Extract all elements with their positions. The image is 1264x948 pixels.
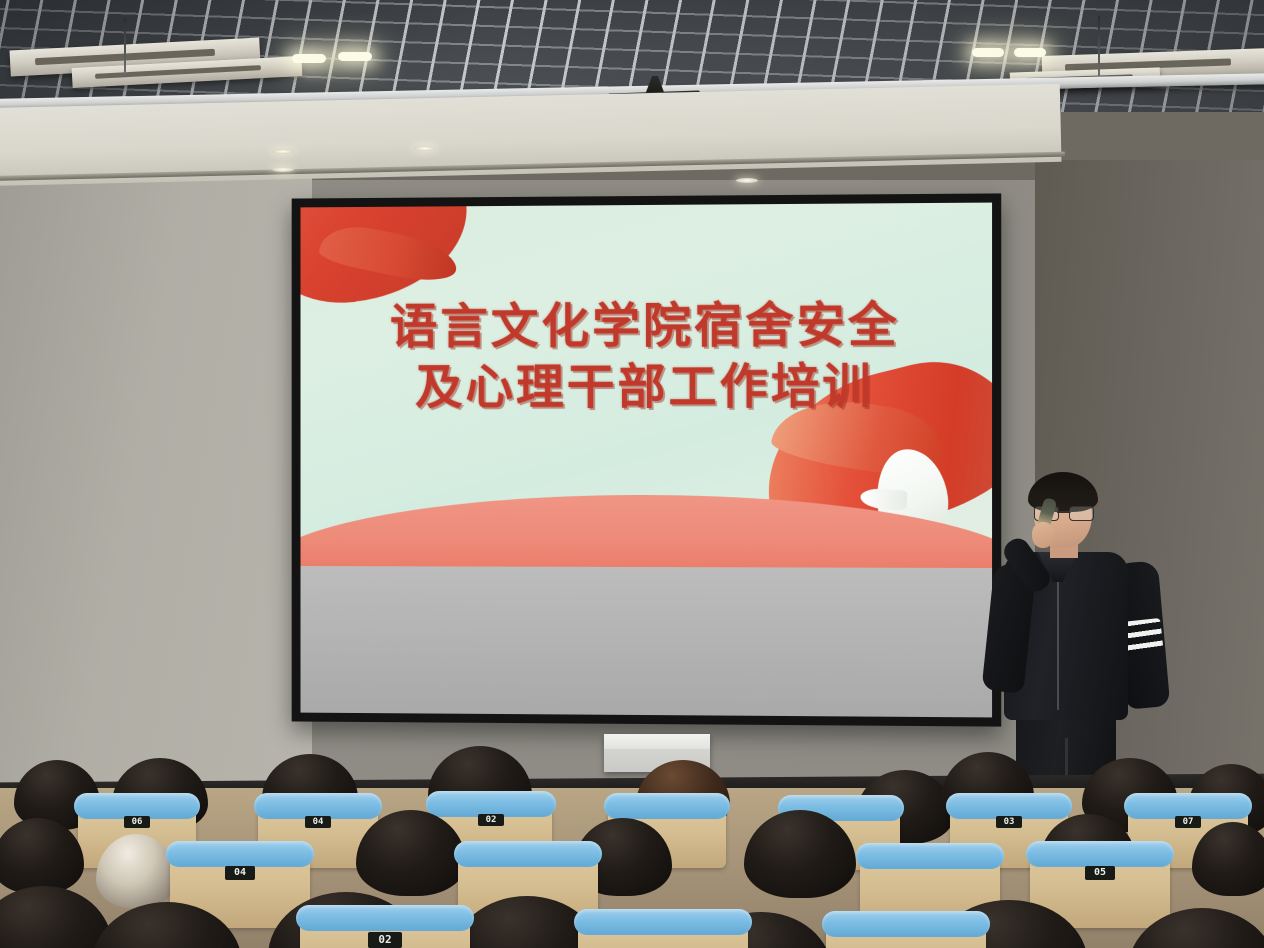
seat-number: 04 bbox=[305, 816, 331, 828]
seat-number: 03 bbox=[996, 816, 1022, 828]
ceiling-hanger-rod-left bbox=[124, 18, 126, 74]
seat-cushion bbox=[604, 793, 730, 819]
seat[interactable]: 02 bbox=[300, 918, 470, 948]
slide-title: 语言文化学院宿舍安全 及心理干部工作培训 bbox=[301, 294, 993, 419]
ceiling-light-3 bbox=[972, 48, 1004, 57]
audience-head bbox=[0, 886, 112, 948]
left-wall bbox=[0, 150, 312, 810]
downlight-2 bbox=[414, 146, 436, 151]
projection-screen-surface: 语言文化学院宿舍安全 及心理干部工作培训 bbox=[301, 203, 993, 718]
seat-cushion bbox=[166, 841, 314, 867]
slide-title-line-1: 语言文化学院宿舍安全 bbox=[301, 294, 993, 358]
seat-cushion bbox=[856, 843, 1004, 869]
seat-cushion bbox=[454, 841, 602, 867]
seat-cushion bbox=[296, 905, 474, 931]
downlight-3 bbox=[272, 167, 294, 172]
lecture-hall-photo: 语言文化学院宿舍安全 及心理干部工作培训 bbox=[0, 0, 1264, 948]
seat-number: 06 bbox=[124, 816, 150, 828]
seat-cushion bbox=[1026, 841, 1174, 867]
seat-cushion bbox=[574, 909, 752, 935]
ceiling-light-4 bbox=[1014, 48, 1046, 57]
projected-slide: 语言文化学院宿舍安全 及心理干部工作培训 bbox=[301, 203, 993, 569]
seat-number: 05 bbox=[1085, 866, 1115, 880]
seat-number: 07 bbox=[1175, 816, 1201, 828]
audience-head bbox=[0, 818, 84, 894]
seat-cushion bbox=[822, 911, 990, 937]
downlight-1 bbox=[272, 149, 294, 154]
seat[interactable] bbox=[826, 924, 986, 948]
seat-number: 02 bbox=[478, 814, 504, 826]
ceiling-hanger-rod-right bbox=[1098, 16, 1100, 78]
seat-number: 04 bbox=[225, 866, 255, 880]
projection-screen: 语言文化学院宿舍安全 及心理干部工作培训 bbox=[292, 193, 1002, 726]
presenter-jacket-zip bbox=[1057, 568, 1059, 710]
seat-number: 02 bbox=[368, 932, 402, 948]
downlight-4 bbox=[736, 178, 758, 183]
audience-area: 06 04 02 03 07 bbox=[0, 736, 1264, 948]
ceiling-light-1 bbox=[292, 54, 326, 63]
screen-blank-area bbox=[301, 566, 993, 717]
ceiling-light-2 bbox=[338, 52, 372, 61]
seat[interactable] bbox=[578, 922, 748, 948]
slide-title-line-2: 及心理干部工作培训 bbox=[301, 356, 993, 419]
presenter-hand bbox=[1032, 522, 1054, 548]
